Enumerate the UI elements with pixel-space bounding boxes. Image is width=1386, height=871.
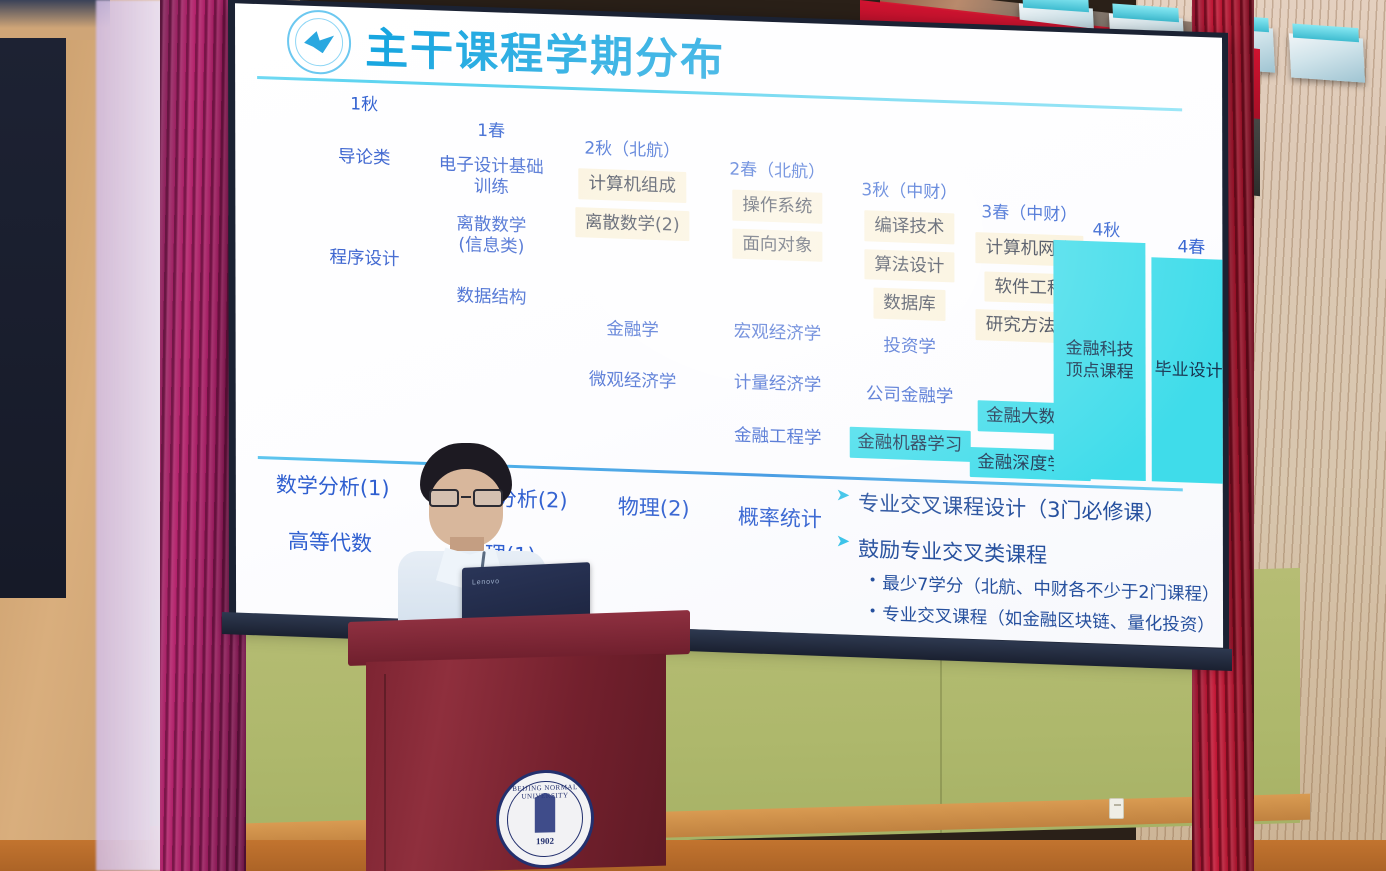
- beihang-university-logo: [287, 9, 351, 75]
- laptop-brand-label: Lenovo: [472, 578, 500, 586]
- course-cell: 金融学: [604, 314, 661, 347]
- projection-screen: 主干课程学期分布 1秋 导论类 程序设计 1春 电子设计基础 训练 离散数学 (…: [228, 0, 1229, 658]
- bullet-text: 专业交叉课程设计（3门必修课）: [858, 487, 1165, 528]
- column-head: 2春（北航）: [707, 154, 847, 184]
- math-course: 物理(2): [618, 491, 690, 524]
- arrow-bullet-icon: ➤: [836, 532, 850, 551]
- door-frame-top: [0, 0, 110, 40]
- sub-bullet-text: 专业交叉课程（如金融区块链、量化投资）: [882, 601, 1215, 638]
- lectern-edge: [384, 674, 386, 871]
- math-course: 高等代数: [288, 525, 372, 558]
- course-cell: 面向对象: [732, 228, 822, 262]
- column-head: 2秋（北航）: [557, 132, 707, 162]
- column-4chun: 4春: [1151, 231, 1223, 259]
- bullet-text: 鼓励专业交叉类课程: [858, 533, 1047, 570]
- column-head: 1春: [421, 114, 561, 144]
- course-cell: 数据库: [873, 288, 946, 321]
- column-head: 3秋（中财）: [839, 174, 979, 204]
- sub-bullet-item: • 最少7学分（北航、中财各不少于2门课程）: [870, 569, 1216, 606]
- column-head: 4春: [1151, 231, 1223, 259]
- column-head: 1秋: [299, 87, 429, 117]
- sub-bullet-text: 最少7学分（北航、中财各不少于2门课程）: [882, 570, 1219, 607]
- column-2qiu-beihang: 2秋（北航） 计算机组成 离散数学(2) 金融学 微观经济学: [557, 132, 707, 407]
- capstone-course-box: 金融科技 顶点课程: [1053, 240, 1145, 481]
- course-cell: 操作系统: [732, 190, 822, 224]
- bullet-item: ➤ 专业交叉课程设计（3门必修课）: [836, 486, 1216, 529]
- course-cell: 导论类: [336, 142, 393, 175]
- column-2chun-beihang: 2春（北航） 操作系统 面向对象 宏观经济学 计量经济学 金融工程学: [707, 154, 848, 463]
- bullet-item: ➤ 鼓励专业交叉类课程 • 最少7学分（北航、中财各不少于2门课程） • 专业交…: [836, 532, 1216, 637]
- course-cell: 离散数学 (信息类): [454, 209, 528, 263]
- course-cell: 离散数学(2): [575, 207, 690, 242]
- course-cell: 程序设计: [327, 242, 401, 275]
- sub-bullet-item: • 专业交叉课程（如金融区块链、量化投资）: [870, 600, 1216, 637]
- glasses-icon: [428, 489, 504, 507]
- stage-light-4: [1289, 33, 1365, 82]
- dot-bullet-icon: •: [870, 569, 875, 592]
- presenter-face: [429, 469, 503, 547]
- course-cell: 计量经济学: [732, 368, 824, 402]
- column-head: 4秋: [1063, 214, 1149, 242]
- course-cell: 金融工程学: [732, 420, 824, 454]
- course-cell: 编译技术: [864, 210, 954, 244]
- column-1qiu: 1秋 导论类 程序设计: [299, 87, 429, 284]
- math-course: 概率统计: [738, 501, 822, 534]
- lectern: BEIJING NORMAL UNIVERSITY 1902: [348, 622, 690, 871]
- course-cell: 金融机器学习: [849, 427, 970, 462]
- arrow-bullet-icon: ➤: [836, 486, 850, 505]
- course-cell: 电子设计基础 训练: [437, 149, 546, 204]
- bullet-list: ➤ 专业交叉课程设计（3门必修课） ➤ 鼓励专业交叉类课程 • 最少7学分（北航…: [836, 486, 1216, 637]
- slide-title: 主干课程学期分布: [365, 14, 725, 89]
- graduation-project-box: 毕业设计: [1151, 257, 1223, 484]
- course-cell: 微观经济学: [587, 364, 679, 398]
- course-cell: 计算机组成: [579, 168, 687, 202]
- course-cell: 算法设计: [864, 249, 954, 283]
- wall-outlet: [1109, 798, 1124, 819]
- presentation-slide: 主干课程学期分布 1秋 导论类 程序设计 1春 电子设计基础 训练 离散数学 (…: [235, 3, 1223, 648]
- course-cell: 投资学: [881, 331, 938, 364]
- left-doorway: [0, 38, 66, 598]
- left-curtain-highlight: [96, 0, 166, 871]
- dot-bullet-icon: •: [870, 600, 875, 623]
- lecture-hall-scene: 主干课程学期分布 1秋 导论类 程序设计 1春 电子设计基础 训练 离散数学 (…: [0, 0, 1386, 871]
- screen-frame: 主干课程学期分布 1秋 导论类 程序设计 1春 电子设计基础 训练 离散数学 (…: [228, 0, 1229, 658]
- column-1chun: 1春 电子设计基础 训练 离散数学 (信息类) 数据结构: [421, 114, 561, 323]
- math-course: 数学分析(1): [276, 469, 390, 503]
- course-cell: 宏观经济学: [732, 317, 824, 351]
- column-4qiu: 4秋: [1063, 214, 1149, 242]
- course-cell: 数据结构: [454, 280, 528, 313]
- course-cell: 公司金融学: [864, 379, 956, 413]
